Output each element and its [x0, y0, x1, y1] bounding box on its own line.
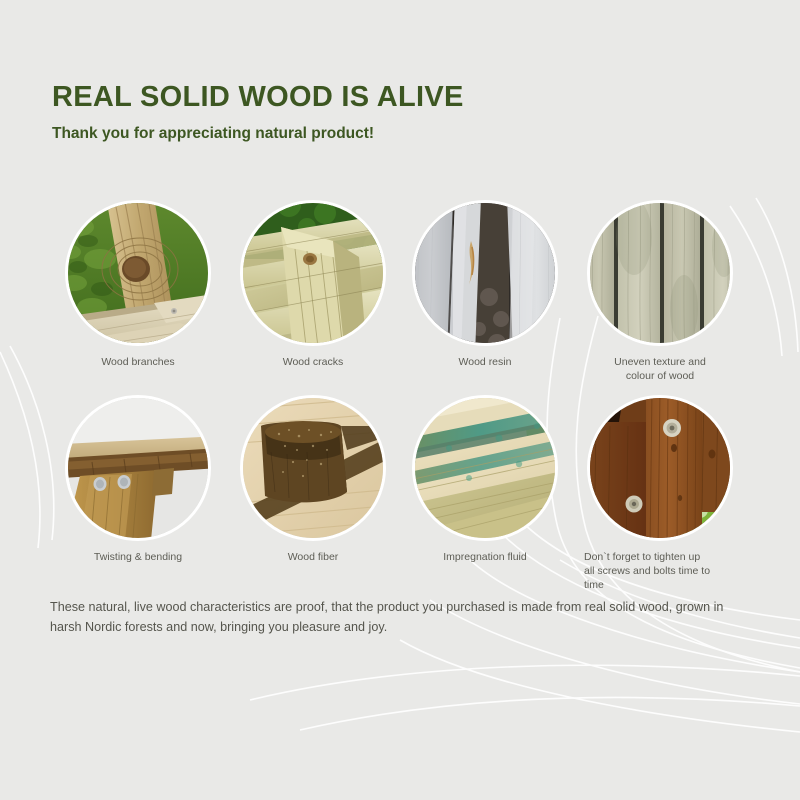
page-title: REAL SOLID WOOD IS ALIVE [52, 82, 464, 114]
gallery-item-twisting-bending: Twisting & bending [58, 395, 218, 564]
gallery-item-wood-branches: Wood branches [58, 200, 218, 369]
gallery-item-caption: Impregnation fluid [405, 550, 565, 564]
thumbnail-wrap [412, 395, 558, 541]
wood-cracks-illustration [240, 200, 386, 346]
header: REAL SOLID WOOD IS ALIVE Thank you for a… [52, 82, 464, 142]
gallery-item-tighten-screws: Don`t forget to tighten up all screws an… [580, 395, 740, 593]
uneven-texture-illustration [587, 200, 733, 346]
gallery-item-caption: Don`t forget to tighten up all screws an… [580, 550, 740, 593]
thumbnail-wrap [240, 395, 386, 541]
gallery-item-impregnation-fluid: Impregnation fluid [405, 395, 565, 564]
photo-uneven-texture-icon [587, 200, 733, 346]
thumbnail-wrap [240, 200, 386, 346]
gallery-item-uneven-texture: Uneven texture and colour of wood [580, 200, 740, 383]
gallery-item-caption: Wood fiber [233, 550, 393, 564]
gallery-item-caption: Wood cracks [233, 355, 393, 369]
thumbnail-wrap [412, 200, 558, 346]
impregnation-fluid-illustration [412, 395, 558, 541]
wood-resin-illustration [412, 200, 558, 346]
page-subtitle: Thank you for appreciating natural produ… [52, 125, 464, 142]
photo-twisting-bending-icon [65, 395, 211, 541]
footer-paragraph: These natural, live wood characteristics… [50, 598, 730, 637]
photo-wood-branches-icon [65, 200, 211, 346]
photo-wood-resin-icon [412, 200, 558, 346]
gallery-item-caption: Wood branches [58, 355, 218, 369]
thumbnail-wrap [65, 200, 211, 346]
photo-wood-fiber-icon [240, 395, 386, 541]
photo-tighten-screws-icon [587, 395, 733, 541]
wood-fiber-illustration [240, 395, 386, 541]
gallery-item-caption: Twisting & bending [58, 550, 218, 564]
photo-wood-cracks-icon [240, 200, 386, 346]
photo-impregnation-fluid-icon [412, 395, 558, 541]
thumbnail-wrap [587, 200, 733, 346]
thumbnail-wrap [587, 395, 733, 541]
twisting-bending-illustration [65, 395, 211, 541]
gallery-item-wood-resin: Wood resin [405, 200, 565, 369]
gallery-item-wood-cracks: Wood cracks [233, 200, 393, 369]
gallery-item-caption: Wood resin [405, 355, 565, 369]
thumbnail-wrap [65, 395, 211, 541]
wood-branches-illustration [65, 200, 211, 346]
gallery-item-caption: Uneven texture and colour of wood [580, 355, 740, 383]
infographic-page: REAL SOLID WOOD IS ALIVE Thank you for a… [0, 0, 800, 800]
gallery-item-wood-fiber: Wood fiber [233, 395, 393, 564]
tighten-screws-illustration [587, 395, 733, 541]
